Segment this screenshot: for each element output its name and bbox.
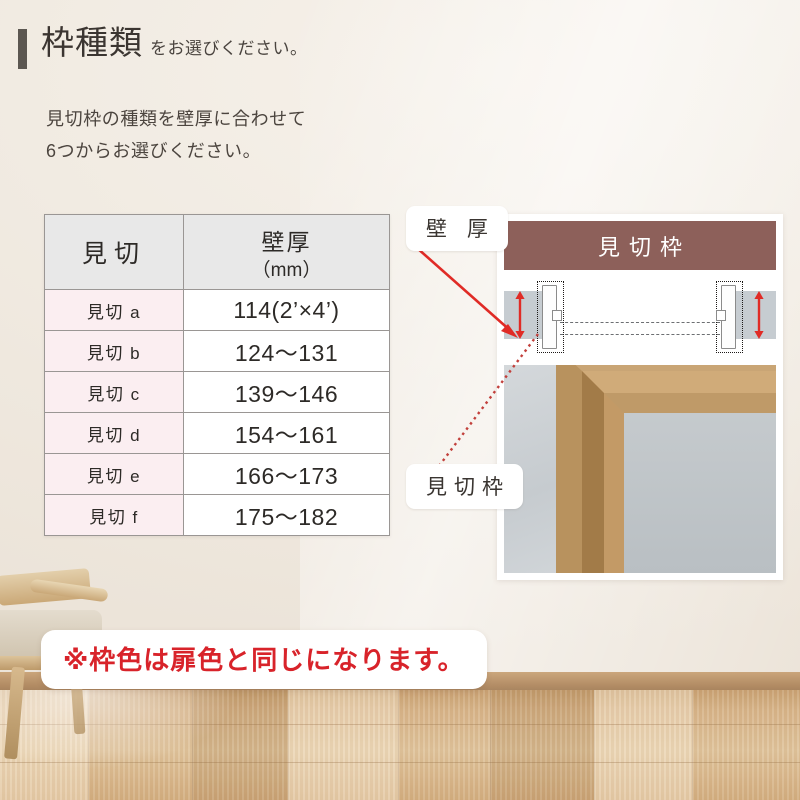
door-leaf-line	[560, 322, 720, 323]
row-name: 見切 b	[45, 331, 184, 372]
row-value: 175〜182	[184, 495, 390, 536]
cross-section-diagram	[504, 270, 776, 359]
diagram-card-title: 見切枠	[504, 221, 776, 270]
doorway-opening	[550, 291, 730, 339]
row-value: 124〜131	[184, 331, 390, 372]
row-value: 114(2’×4’)	[184, 290, 390, 331]
infographic-scene: 枠種類をお選びください。 見切枠の種類を壁厚に合わせて 6つからお選びください。…	[0, 0, 800, 800]
table-row: 見切 a 114(2’×4’)	[45, 290, 390, 331]
frame-profile-right	[716, 281, 743, 353]
page-header: 枠種類をお選びください。	[18, 26, 308, 69]
callout-frame-label: 見切枠	[406, 464, 523, 509]
wall-thickness-arrow-left	[514, 291, 526, 339]
row-value: 166〜173	[184, 454, 390, 495]
row-name: 見切 e	[45, 454, 184, 495]
column-header-frame: 見切	[45, 215, 184, 290]
wall-thickness-arrow-right	[753, 291, 765, 339]
column-header-wall-thickness: 壁厚 （mm）	[184, 215, 390, 290]
page-title: 枠種類	[41, 24, 143, 61]
callout-wall-thickness: 壁 厚	[406, 206, 508, 251]
table-row: 見切 e 166〜173	[45, 454, 390, 495]
frame-profile-left	[537, 281, 564, 353]
title-accent-bar	[18, 29, 27, 69]
intro-line-1: 見切枠の種類を壁厚に合わせて	[46, 104, 306, 136]
row-name: 見切 a	[45, 290, 184, 331]
frame-diagram-card: 見切枠	[497, 214, 783, 580]
table-body: 見切 a 114(2’×4’) 見切 b 124〜131 見切 c 139〜14…	[45, 290, 390, 536]
table-row: 見切 b 124〜131	[45, 331, 390, 372]
intro-line-2: 6つからお選びください。	[46, 136, 306, 168]
frame-color-note: ※枠色は扉色と同じになります。	[41, 630, 487, 689]
table-header-row: 見切 壁厚 （mm）	[45, 215, 390, 290]
intro-text: 見切枠の種類を壁厚に合わせて 6つからお選びください。	[46, 104, 306, 167]
row-name: 見切 c	[45, 372, 184, 413]
table-row: 見切 f 175〜182	[45, 495, 390, 536]
row-value: 154〜161	[184, 413, 390, 454]
table-row: 見切 c 139〜146	[45, 372, 390, 413]
page-title-suffix: をお選びください。	[150, 39, 308, 58]
table-row: 見切 d 154〜161	[45, 413, 390, 454]
row-name: 見切 f	[45, 495, 184, 536]
frame-corner-photo	[504, 365, 776, 573]
frame-spec-table: 見切 壁厚 （mm） 見切 a 114(2’×4’) 見切 b 124〜131 …	[44, 214, 390, 536]
door-leaf-line	[560, 334, 720, 335]
row-name: 見切 d	[45, 413, 184, 454]
row-value: 139〜146	[184, 372, 390, 413]
